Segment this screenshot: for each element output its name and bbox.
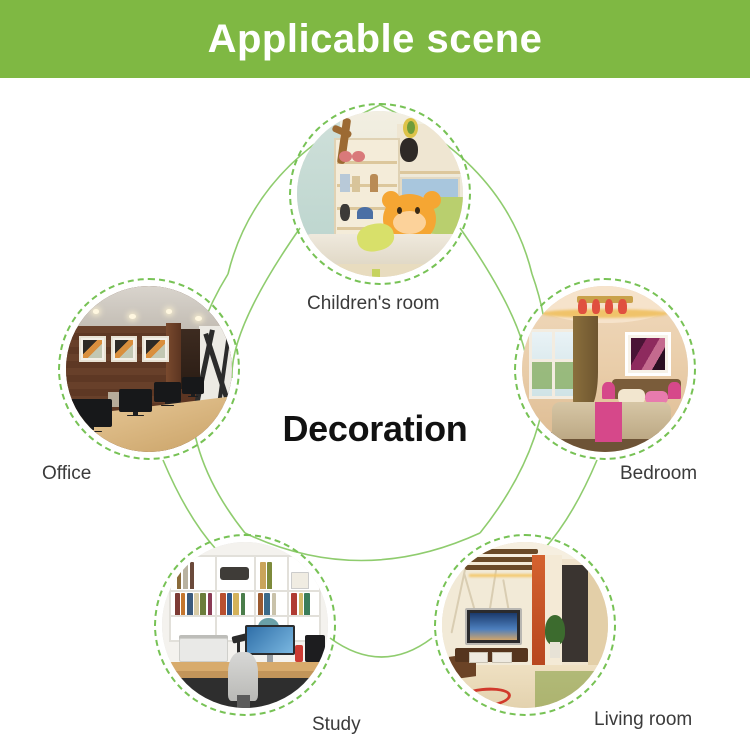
scene-node-living-room[interactable]: Living room	[434, 534, 616, 716]
bedroom-ring	[514, 278, 696, 460]
scene-node-office[interactable]: Office	[58, 278, 240, 460]
childrens-room-ring	[289, 103, 471, 285]
office-ring	[58, 278, 240, 460]
study-ring	[154, 534, 336, 716]
page-title: Applicable scene	[208, 19, 543, 59]
scene-diagram: Decoration	[0, 78, 750, 750]
living-room-ring	[434, 534, 616, 716]
scene-node-study[interactable]: Study	[154, 534, 336, 716]
scene-label-bedroom: Bedroom	[620, 463, 697, 485]
scene-label-office: Office	[42, 463, 91, 485]
scene-node-bedroom[interactable]: Bedroom	[514, 278, 696, 460]
header-banner: Applicable scene	[0, 0, 750, 78]
scene-node-childrens-room[interactable]: Children's room	[289, 103, 471, 285]
scene-label-childrens-room: Children's room	[307, 293, 439, 315]
scene-label-study: Study	[312, 714, 361, 736]
scene-label-living-room: Living room	[594, 709, 692, 731]
